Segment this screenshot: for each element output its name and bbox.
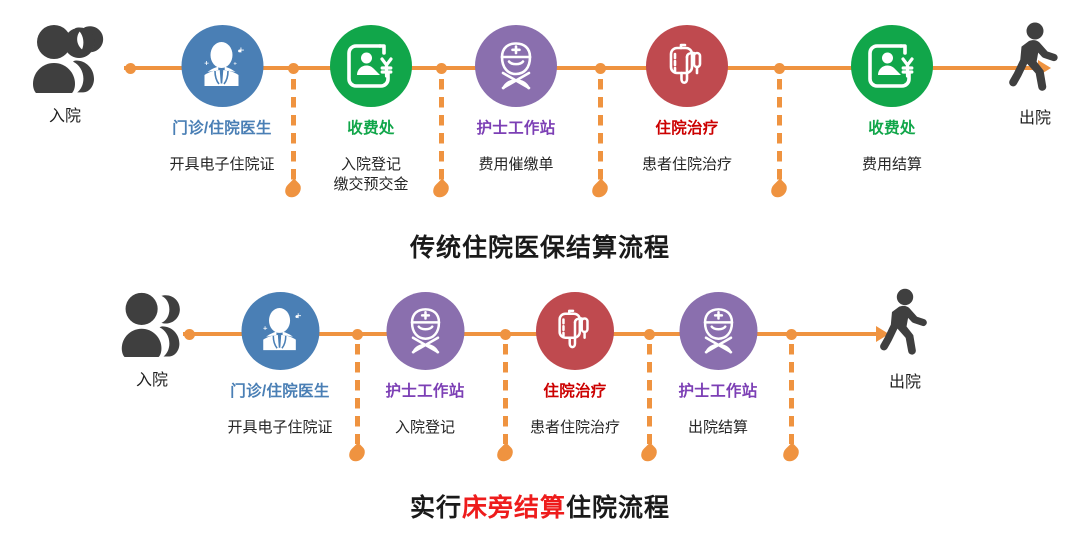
node-label: 护士工作站 (385, 383, 464, 402)
node-description: 出院结算 (678, 418, 757, 438)
flow-node-treatment[interactable]: 住院治疗 患者住院治疗 (530, 292, 620, 438)
nurse-icon (693, 306, 743, 356)
flow-node-treatment[interactable]: 住院治疗 患者住院治疗 (642, 25, 732, 175)
iv-drip-icon (551, 307, 599, 355)
node-label: 护士工作站 (678, 383, 757, 402)
flow-title-part: 实行 (410, 494, 462, 522)
node-label: 收费处 (330, 120, 412, 139)
flow-node-nurse-settlement[interactable]: 护士工作站 出院结算 (678, 292, 757, 438)
flow-title-bedside: 实行床旁结算住院流程 (0, 488, 1080, 524)
flow-node-nurse-station[interactable]: 护士工作站 入院登记 (385, 292, 464, 438)
node-description-line: 入院登记 (330, 155, 412, 175)
flow-node-cashier[interactable]: 收费处 入院登记 缴交预交金 (330, 25, 412, 195)
flow-start-entry: 入院 (110, 290, 194, 390)
two-people-icon (110, 290, 194, 363)
node-circle (386, 292, 464, 370)
node-circle (851, 25, 933, 107)
walking-person-icon (878, 288, 932, 365)
node-description: 开具电子住院证 (169, 155, 274, 175)
flow-end-exit: 出院 (878, 288, 932, 392)
two-people-icon (21, 22, 109, 99)
flow-start-entry: 入院 (21, 22, 109, 126)
node-description: 入院登记 (385, 418, 464, 438)
node-label: 门诊/住院医生 (227, 383, 332, 402)
rail-dot (125, 63, 136, 74)
node-description: 入院登记 缴交预交金 (330, 155, 412, 196)
node-label: 住院治疗 (642, 120, 732, 139)
doctor-icon (196, 42, 248, 90)
node-label: 护士工作站 (475, 120, 557, 139)
flow-node-doctor[interactable]: 门诊/住院医生 开具电子住院证 (227, 292, 332, 438)
flow-diagram-bedside: 入院 门诊 (0, 272, 1080, 543)
node-description: 患者住院治疗 (530, 418, 620, 438)
iv-drip-icon (662, 41, 712, 91)
flow-end-label: 出院 (1007, 109, 1063, 128)
node-circle (181, 25, 263, 107)
node-description-line: 缴交预交金 (330, 175, 412, 195)
nurse-icon (400, 306, 450, 356)
node-circle (330, 25, 412, 107)
node-label: 门诊/住院医生 (169, 120, 274, 139)
node-circle (536, 292, 614, 370)
node-circle (679, 292, 757, 370)
flow-node-nurse-station[interactable]: 护士工作站 费用催缴单 (475, 25, 557, 175)
node-circle (475, 25, 557, 107)
flow-title-text: 传统住院医保结算流程 (410, 234, 670, 262)
flow-end-label: 出院 (878, 373, 932, 392)
node-description: 患者住院治疗 (642, 155, 732, 175)
doctor-icon (255, 308, 305, 354)
cashier-payment-icon (865, 41, 919, 91)
node-description: 费用结算 (851, 155, 933, 175)
node-circle (646, 25, 728, 107)
flow-title-part-highlight: 床旁结算 (462, 494, 566, 522)
node-description: 费用催缴单 (475, 155, 557, 175)
flow-node-doctor[interactable]: 门诊/住院医生 开具电子住院证 (169, 25, 274, 175)
flow-node-cashier-settlement[interactable]: 收费处 费用结算 (851, 25, 933, 175)
walking-person-icon (1007, 22, 1063, 101)
nurse-icon (490, 40, 542, 92)
flow-title-part: 住院流程 (566, 494, 670, 522)
node-label: 收费处 (851, 120, 933, 139)
node-label: 住院治疗 (530, 383, 620, 402)
flow-end-exit: 出院 (1007, 22, 1063, 128)
node-circle (241, 292, 319, 370)
flow-start-label: 入院 (110, 371, 194, 390)
flow-diagram-traditional: 入院 (0, 0, 1080, 272)
flow-start-label: 入院 (21, 107, 109, 126)
cashier-payment-icon (344, 41, 398, 91)
node-description: 开具电子住院证 (227, 418, 332, 438)
flow-title-traditional: 传统住院医保结算流程 (0, 228, 1080, 264)
